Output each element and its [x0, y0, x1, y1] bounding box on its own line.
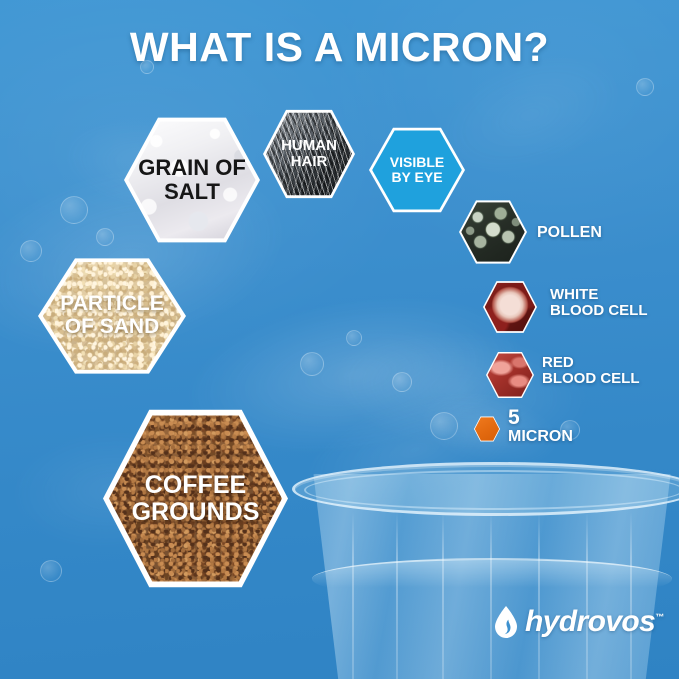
bubble-decor	[392, 372, 412, 392]
side-label-line1: 5	[508, 406, 520, 429]
bubble-decor	[40, 560, 62, 582]
hexagon-label-line2: SALT	[164, 179, 220, 204]
hexagon-label-line1: PARTICLE	[60, 292, 163, 315]
side-label-line1: RED	[542, 354, 574, 371]
side-label-five-micron: 5 MICRON	[508, 407, 573, 446]
hexagon-label-line1: VISIBLE	[390, 154, 444, 170]
side-label-white-blood-cell: WHITE BLOOD CELL	[550, 287, 648, 319]
side-label-line2: BLOOD CELL	[542, 370, 640, 387]
micron-infographic-poster: WHAT IS A MICRON? GRAIN OF SALT HUMAN HA…	[0, 0, 679, 679]
hexagon-label-line1: COFFEE	[145, 471, 246, 499]
hexagon-label-line2: GROUNDS	[132, 498, 260, 526]
bubble-decor	[636, 78, 654, 96]
brand-logo[interactable]: hydrovos™	[493, 605, 664, 639]
side-label-line1: POLLEN	[537, 224, 602, 241]
hexagon-label-coffee-grounds: COFFEE GROUNDS	[126, 472, 266, 526]
side-label-line1: WHITE	[550, 286, 598, 303]
five-micron-fill	[475, 417, 499, 441]
side-label-line2: MICRON	[508, 428, 573, 445]
red-blood-cell-texture	[488, 353, 533, 398]
trademark-symbol: ™	[655, 612, 663, 622]
bubble-decor	[20, 240, 42, 262]
side-label-pollen: POLLEN	[537, 225, 602, 242]
bubble-decor	[430, 412, 458, 440]
white-blood-cell-texture	[485, 282, 535, 332]
bubble-decor	[60, 196, 88, 224]
bubble-decor	[300, 352, 324, 376]
hexagon-label-human-hair: HUMAN HAIR	[275, 138, 343, 170]
hexagon-label-line2: OF SAND	[65, 315, 160, 338]
hexagon-label-line1: HUMAN	[281, 137, 337, 154]
page-title: WHAT IS A MICRON?	[0, 24, 679, 71]
hexagon-label-line2: BY EYE	[391, 169, 442, 185]
hexagon-label-grain-of-salt: GRAIN OF SALT	[132, 156, 252, 204]
side-label-line2: BLOOD CELL	[550, 302, 648, 319]
hexagon-label-particle-of-sand: PARTICLE OF SAND	[54, 293, 169, 338]
bubble-decor	[346, 330, 362, 346]
hexagon-label-line1: GRAIN OF	[138, 155, 246, 180]
hexagon-label-line2: HAIR	[291, 153, 328, 170]
water-droplet-icon	[493, 605, 519, 639]
brand-name-text: hydrovos	[525, 605, 655, 638]
side-label-red-blood-cell: RED BLOOD CELL	[542, 355, 640, 387]
pollen-texture	[461, 201, 525, 263]
bubble-decor	[96, 228, 114, 246]
hexagon-label-visible-by-eye: VISIBLE BY EYE	[384, 155, 450, 185]
brand-name: hydrovos™	[525, 605, 664, 639]
